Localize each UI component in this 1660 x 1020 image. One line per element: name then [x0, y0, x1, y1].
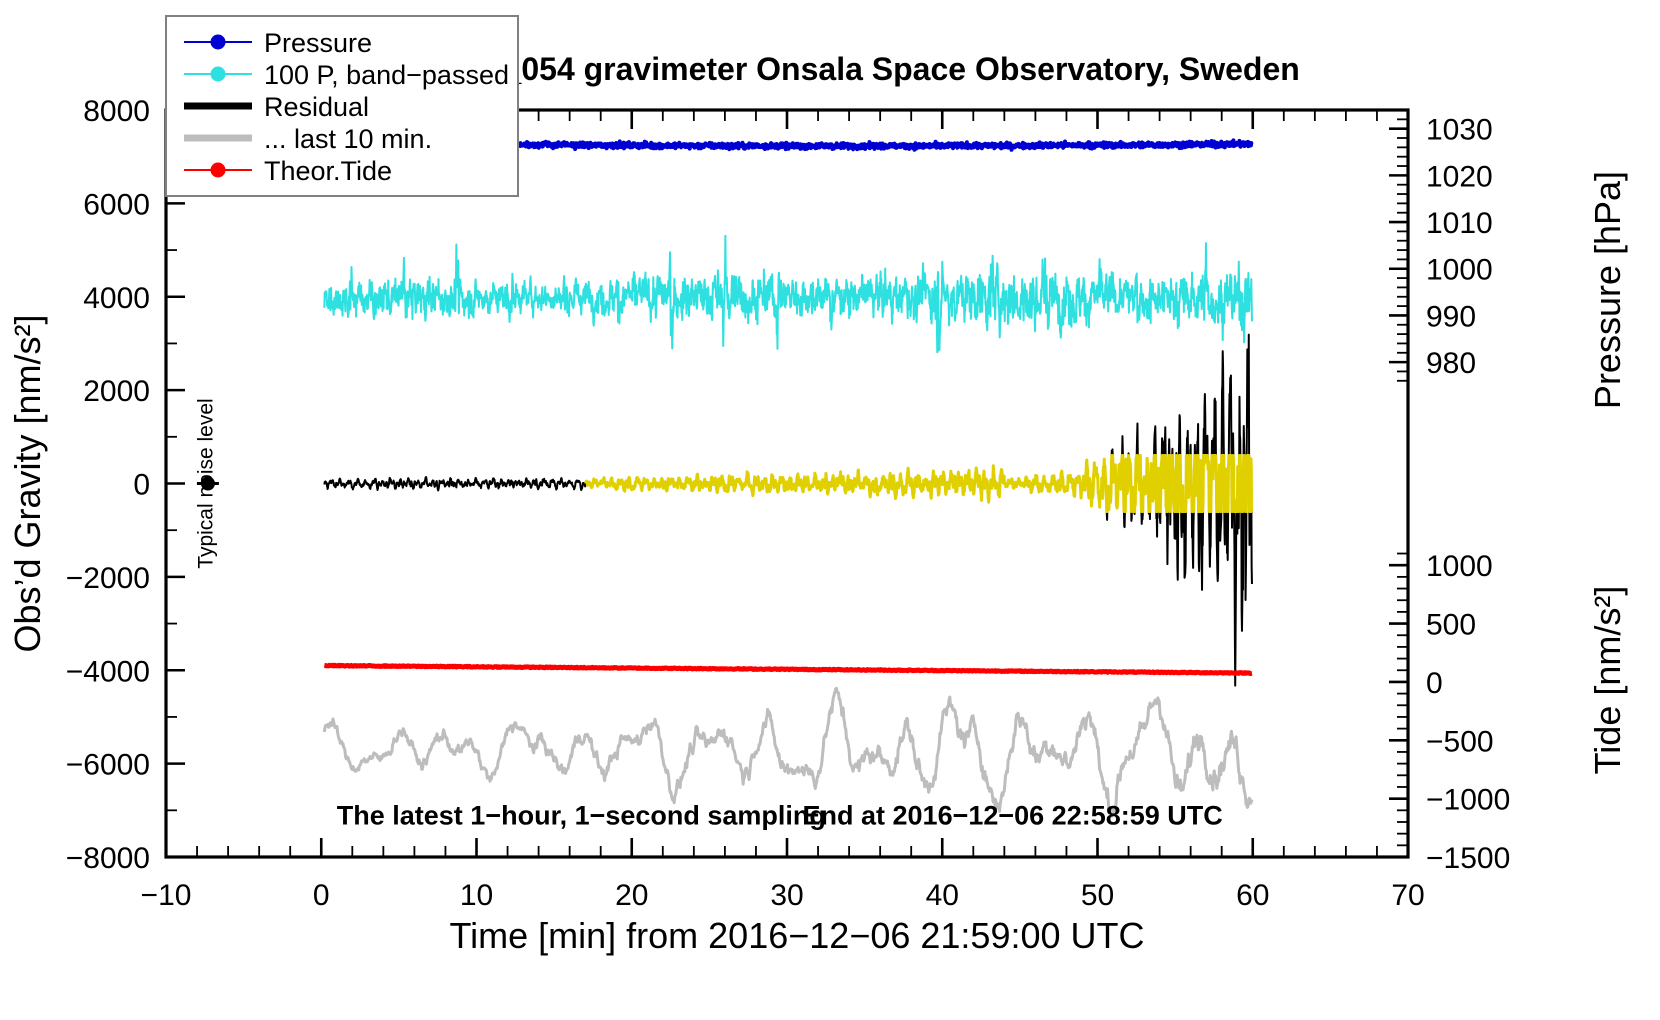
legend-label-5: Theor.Tide: [264, 156, 392, 186]
trace-residual-overlay: [586, 455, 1252, 511]
y-tick-label: −4000: [66, 655, 150, 688]
chart-title: SCG_054 gravimeter Onsala Space Observat…: [434, 51, 1300, 87]
x-tick-label: 30: [770, 879, 803, 912]
pressure-axis-title: Pressure [hPa]: [1587, 171, 1628, 409]
pressure-tick-label: 1020: [1426, 160, 1493, 193]
legend-label-1: Pressure: [264, 28, 372, 58]
tide-tick-label: −500: [1426, 725, 1494, 758]
pressure-tick-label: 1000: [1426, 254, 1493, 287]
tide-tick-label: −1500: [1426, 842, 1510, 875]
legend-label-4: ... last 10 min.: [264, 124, 432, 154]
y-tick-label: 0: [133, 469, 150, 502]
x-tick-label: 20: [615, 879, 648, 912]
legend-marker-dot-5: [211, 163, 226, 178]
pressure-tick-label: 1010: [1426, 207, 1493, 240]
pressure-tick-label: 1030: [1426, 114, 1493, 147]
y-tick-label: 8000: [83, 95, 150, 128]
x-tick-label: 40: [926, 879, 959, 912]
legend-marker-dot-1: [211, 35, 226, 50]
pressure-tick-label: 980: [1426, 347, 1476, 380]
x-tick-label: −10: [141, 879, 192, 912]
annotation-latest-sampling: The latest 1−hour, 1−second sampling: [337, 800, 826, 830]
x-tick-label: 0: [313, 879, 330, 912]
tide-tick-label: 1000: [1426, 550, 1493, 583]
y-tick-label: 4000: [83, 282, 150, 315]
x-tick-label: 10: [460, 879, 493, 912]
y-tick-label: −2000: [66, 562, 150, 595]
legend-label-3: Residual: [264, 92, 369, 122]
x-tick-label: 70: [1391, 879, 1424, 912]
trace-pressure-bandpassed: [324, 236, 1252, 353]
x-axis-title: Time [min] from 2016−12−06 21:59:00 UTC: [449, 915, 1144, 956]
tide-tick-label: −1000: [1426, 784, 1510, 817]
legend-label-2: 100 P, band−passed: [264, 60, 509, 90]
y-tick-label: 2000: [83, 375, 150, 408]
trace-last-10-min: [324, 688, 1252, 816]
y-tick-label: 6000: [83, 188, 150, 221]
legend-marker-dot-2: [211, 67, 226, 82]
trace-theor-tide: [324, 665, 1252, 673]
y-tick-label: −8000: [66, 842, 150, 875]
gravimeter-chart: −10010203040506070−8000−6000−4000−200002…: [0, 0, 1660, 1020]
pressure-tick-label: 990: [1426, 300, 1476, 333]
gravimeter-plot-page: −10010203040506070−8000−6000−4000−200002…: [0, 0, 1660, 1020]
y-tick-label: −6000: [66, 749, 150, 782]
trace-residual: [324, 335, 1252, 686]
x-tick-label: 50: [1081, 879, 1114, 912]
annotation-typical-noise-level: Typical noise level: [195, 398, 218, 568]
y-axis-title: Obs’d Gravity [nm/s²]: [7, 314, 48, 652]
tide-tick-label: 0: [1426, 667, 1443, 700]
x-tick-label: 60: [1236, 879, 1269, 912]
tide-axis-title: Tide [nm/s²]: [1587, 586, 1628, 775]
annotation-end-time: End at 2016−12−06 22:58:59 UTC: [803, 800, 1223, 830]
tide-tick-label: 500: [1426, 609, 1476, 642]
